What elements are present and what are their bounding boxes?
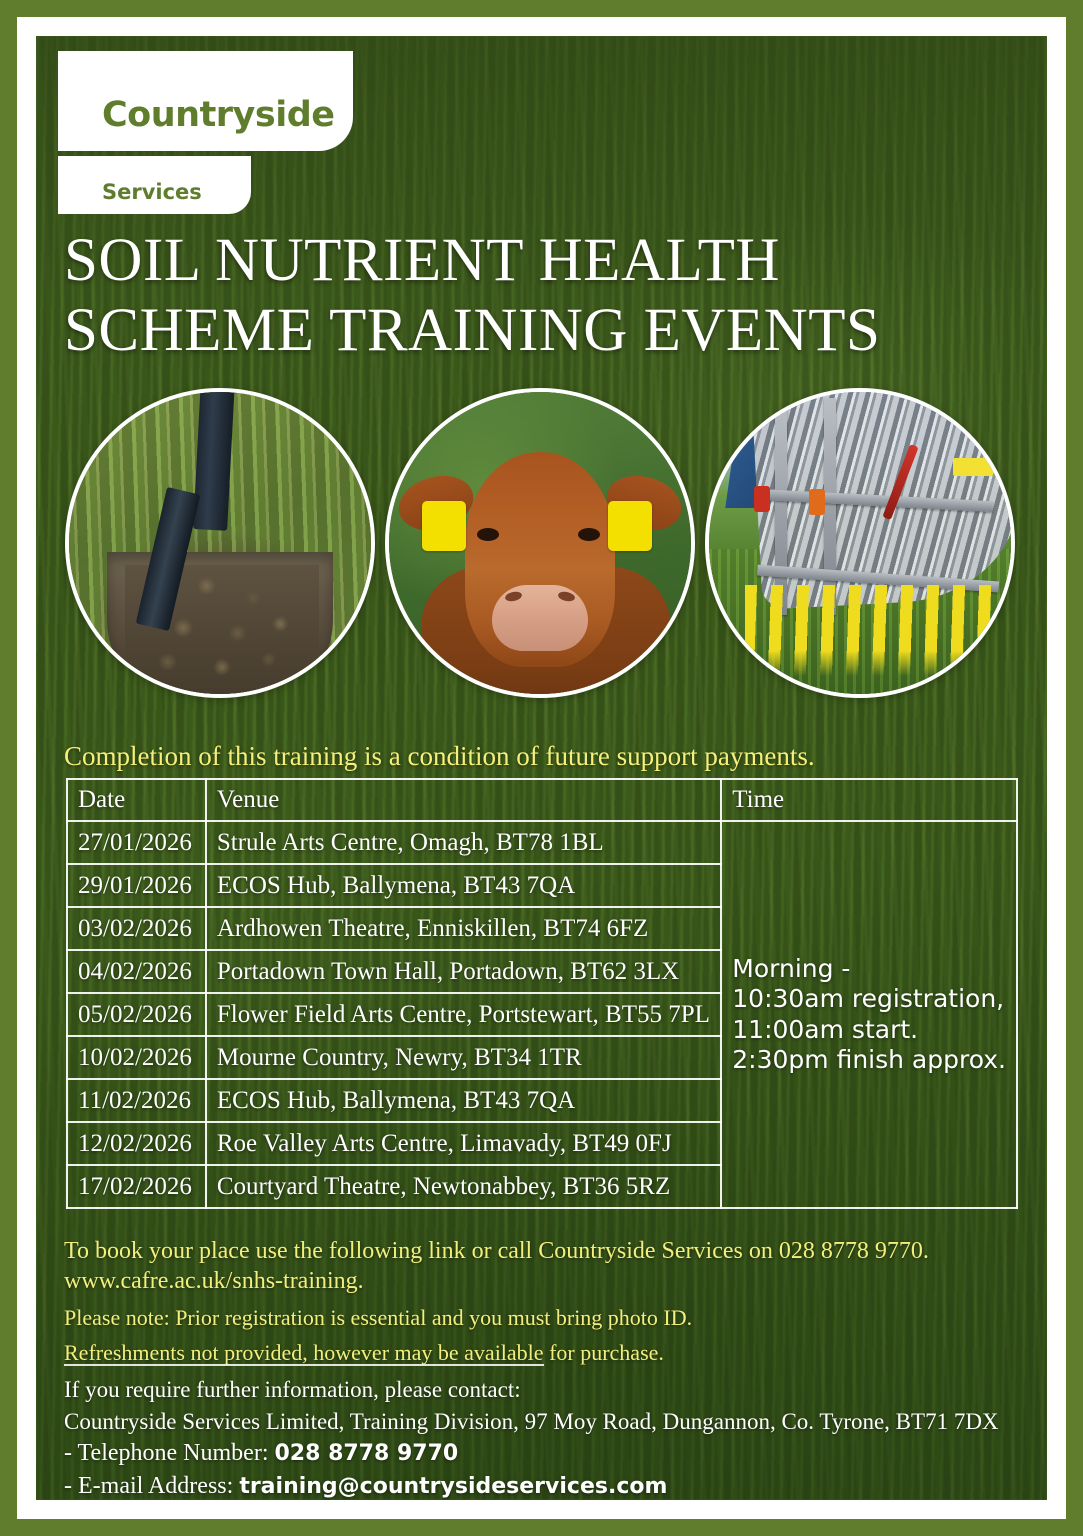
cow-nostril-right <box>557 590 575 602</box>
cell-venue: Flower Field Arts Centre, Portstewart, B… <box>206 993 721 1036</box>
logo-brand-name: Countryside <box>102 95 335 135</box>
soil-photo-art <box>69 392 371 694</box>
condition-subtitle: Completion of this training is a conditi… <box>64 741 815 772</box>
contact-telephone-row: - Telephone Number: 028 8778 9770 <box>64 1437 1047 1470</box>
footer-divider <box>64 1364 544 1366</box>
booking-note-registration: Please note: Prior registration is essen… <box>64 1303 1047 1332</box>
cow-eye-left <box>477 528 499 541</box>
booking-line-1: To book your place use the following lin… <box>64 1236 1047 1266</box>
cell-venue: Courtyard Theatre, Newtonabbey, BT36 5RZ <box>206 1165 721 1208</box>
booking-info: To book your place use the following lin… <box>64 1236 1047 1368</box>
cow-ear-tag-left <box>422 501 466 551</box>
column-header-time: Time <box>721 779 1017 821</box>
table-header-row: Date Venue Time <box>67 779 1017 821</box>
auger-shaft <box>193 388 235 531</box>
slurry-photo-art <box>709 392 1011 694</box>
contact-intro: If you require further information, plea… <box>64 1374 1047 1406</box>
cow-muzzle <box>492 585 588 651</box>
page-title-line-2: SCHEME TRAINING EVENTS <box>64 296 1024 366</box>
schedule-table-body: 27/01/2026Strule Arts Centre, Omagh, BT7… <box>67 821 1017 1208</box>
countryside-services-logo: Countryside Services <box>58 51 353 214</box>
photo-circle-row <box>60 386 1025 706</box>
column-header-venue: Venue <box>206 779 721 821</box>
cell-venue: Strule Arts Centre, Omagh, BT78 1BL <box>206 821 721 864</box>
logo-top-block: Countryside <box>58 51 353 151</box>
contact-telephone-label: - Telephone Number: <box>64 1440 274 1466</box>
indicator-lamp <box>754 486 770 512</box>
applicator-frame-bar <box>824 398 836 615</box>
warning-plate <box>953 458 993 476</box>
logo-brand-sub: Services <box>102 180 202 204</box>
schedule-table-wrapper: Date Venue Time 27/01/2026Strule Arts Ce… <box>66 778 1018 1209</box>
cell-venue: Ardhowen Theatre, Enniskillen, BT74 6FZ <box>206 907 721 950</box>
cow-ear-tag-right <box>608 501 652 551</box>
cell-date: 17/02/2026 <box>67 1165 206 1208</box>
cell-date: 29/01/2026 <box>67 864 206 907</box>
contact-email-label: - E-mail Address: <box>64 1473 239 1499</box>
cow-photo-art <box>389 392 691 694</box>
tagged-brown-cow-photo <box>385 388 695 698</box>
cell-venue: ECOS Hub, Ballymena, BT43 7QA <box>206 864 721 907</box>
page-title-line-1: SOIL NUTRIENT HEALTH <box>64 226 1024 296</box>
cell-venue: ECOS Hub, Ballymena, BT43 7QA <box>206 1079 721 1122</box>
slurry-applicator-photo <box>705 388 1015 698</box>
cell-venue: Portadown Town Hall, Portadown, BT62 3LX <box>206 950 721 993</box>
contact-address: Countryside Services Limited, Training D… <box>64 1406 1047 1438</box>
column-header-date: Date <box>67 779 206 821</box>
poster: Countryside Services SOIL NUTRIENT HEALT… <box>0 0 1083 1536</box>
inner-olive-band: Countryside Services SOIL NUTRIENT HEALT… <box>36 36 1047 1500</box>
cell-venue: Mourne Country, Newry, BT34 1TR <box>206 1036 721 1079</box>
cell-date: 10/02/2026 <box>67 1036 206 1079</box>
cow-nostril-left <box>505 590 523 602</box>
contact-email-value[interactable]: training@countrysideservices.com <box>239 1474 667 1499</box>
trailing-shoe-outlets <box>745 585 1005 676</box>
logo-bottom-block: Services <box>58 156 251 214</box>
booking-website-link[interactable]: www.cafre.ac.uk/snhs-training. <box>64 1266 1047 1296</box>
poster-content: Countryside Services SOIL NUTRIENT HEALT… <box>36 36 1047 1500</box>
contact-telephone-value[interactable]: 028 8778 9770 <box>274 1441 458 1466</box>
contact-email-row: - E-mail Address: training@countrysidese… <box>64 1470 1047 1500</box>
page-title: SOIL NUTRIENT HEALTH SCHEME TRAINING EVE… <box>64 226 1024 366</box>
cell-venue: Roe Valley Arts Centre, Limavady, BT49 0… <box>206 1122 721 1165</box>
auger-bowl <box>107 552 333 698</box>
cell-date: 04/02/2026 <box>67 950 206 993</box>
cell-date: 03/02/2026 <box>67 907 206 950</box>
schedule-table: Date Venue Time 27/01/2026Strule Arts Ce… <box>66 778 1018 1209</box>
contact-footer: If you require further information, plea… <box>64 1364 1047 1500</box>
cell-date: 27/01/2026 <box>67 821 206 864</box>
cell-date: 05/02/2026 <box>67 993 206 1036</box>
soil-sample-auger-photo <box>65 388 375 698</box>
cell-date: 12/02/2026 <box>67 1122 206 1165</box>
cell-time: Morning -10:30am registration,11:00am st… <box>721 821 1017 1208</box>
indicator-lamp <box>809 489 825 515</box>
table-row: 27/01/2026Strule Arts Centre, Omagh, BT7… <box>67 821 1017 864</box>
cell-date: 11/02/2026 <box>67 1079 206 1122</box>
